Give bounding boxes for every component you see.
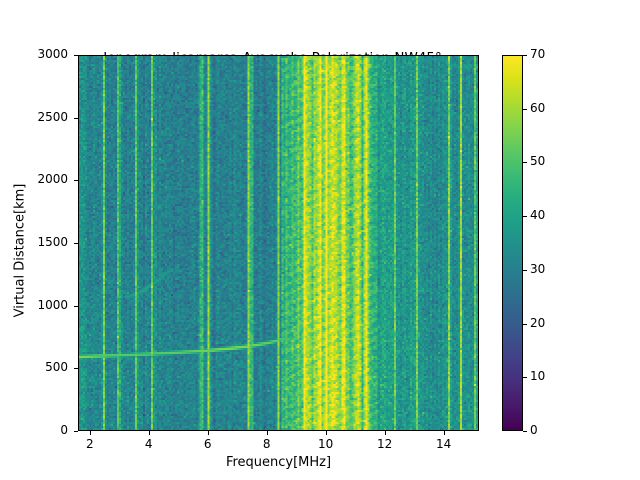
colorbar-tick-label: 30 <box>530 262 545 276</box>
x-tick-mark <box>326 431 327 435</box>
x-tick-label: 8 <box>247 437 287 451</box>
y-tick-label: 0 <box>8 423 68 437</box>
y-tick-label: 3000 <box>8 47 68 61</box>
colorbar-tick-mark <box>523 324 527 325</box>
colorbar-tick-label: 20 <box>530 316 545 330</box>
x-tick-mark <box>444 431 445 435</box>
x-tick-label: 12 <box>365 437 405 451</box>
y-tick-mark <box>74 243 78 244</box>
x-axis-label: Frequency[MHz] <box>78 455 479 470</box>
colorbar-tick-label: 50 <box>530 154 545 168</box>
colorbar-tick-label: 70 <box>530 47 545 61</box>
x-tick-label: 14 <box>424 437 464 451</box>
ionogram-figure: Ionogram Jicamarca-Ayacucho Polarization… <box>0 0 640 480</box>
ionogram-heatmap <box>79 56 479 431</box>
colorbar-tick-mark <box>523 270 527 271</box>
x-tick-mark <box>267 431 268 435</box>
y-tick-mark <box>74 180 78 181</box>
colorbar-tick-mark <box>523 216 527 217</box>
x-tick-label: 2 <box>70 437 110 451</box>
plot-axes-area <box>78 55 479 431</box>
colorbar-tick-label: 0 <box>530 423 538 437</box>
x-tick-label: 4 <box>129 437 169 451</box>
colorbar-gradient <box>503 56 522 430</box>
colorbar-tick-label: 60 <box>530 101 545 115</box>
x-tick-label: 6 <box>188 437 228 451</box>
y-tick-label: 2500 <box>8 110 68 124</box>
colorbar <box>502 55 523 431</box>
x-tick-label: 10 <box>306 437 346 451</box>
y-tick-mark <box>74 368 78 369</box>
y-tick-mark <box>74 431 78 432</box>
colorbar-tick-mark <box>523 109 527 110</box>
y-tick-mark <box>74 306 78 307</box>
x-tick-mark <box>385 431 386 435</box>
x-tick-mark <box>149 431 150 435</box>
y-tick-label: 500 <box>8 360 68 374</box>
colorbar-tick-label: 10 <box>530 369 545 383</box>
colorbar-tick-mark <box>523 431 527 432</box>
colorbar-tick-mark <box>523 377 527 378</box>
y-tick-mark <box>74 118 78 119</box>
x-tick-mark <box>208 431 209 435</box>
colorbar-tick-mark <box>523 55 527 56</box>
colorbar-tick-mark <box>523 162 527 163</box>
y-tick-mark <box>74 55 78 56</box>
y-axis-label: Virtual Distance[km] <box>13 151 28 351</box>
x-tick-mark <box>90 431 91 435</box>
colorbar-tick-label: 40 <box>530 208 545 222</box>
